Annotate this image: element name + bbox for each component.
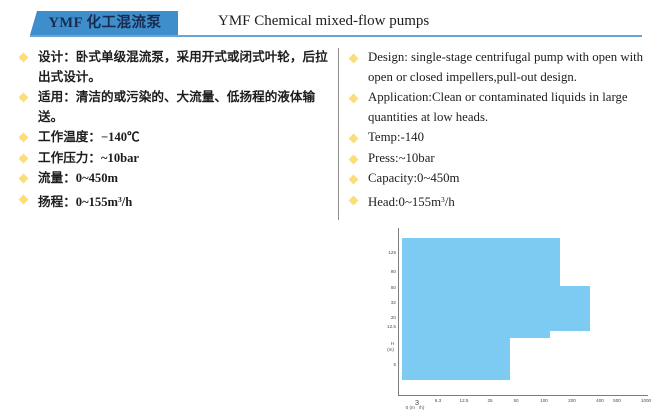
y-axis-caption-line-1: H: [391, 341, 394, 346]
y-tick-label: 125: [388, 250, 396, 255]
list-item: 设计：卧式单级混流泵，采用开式或闭式叶轮，后拉出式设计。: [16, 48, 332, 87]
list-item-label: 扬程：0~155m3/h: [38, 195, 132, 209]
diamond-bullet-icon: [19, 153, 29, 163]
list-item: Press:~10bar: [346, 149, 656, 169]
list-item: Temp:-140: [346, 128, 656, 148]
envelope-polygon: [402, 238, 590, 380]
diamond-bullet-icon: [349, 195, 359, 205]
diamond-bullet-icon: [19, 194, 29, 204]
list-item-label: Press:~10bar: [368, 151, 435, 165]
diamond-bullet-icon: [349, 54, 359, 64]
performance-envelope-chart: 125 80 50 32 20 12.5 H (m) 5 0 (m3/h) 6.…: [368, 228, 653, 413]
list-item-label: Capacity:0~450m: [368, 171, 460, 185]
diamond-bullet-icon: [349, 94, 359, 104]
y-axis-caption-line-2: (m): [387, 347, 394, 352]
column-divider: [338, 48, 339, 220]
page-header: YMF 化工混流泵 YMF Chemical mixed-flow pumps: [0, 0, 667, 42]
list-item-label: 工作温度：−140℃: [38, 130, 140, 144]
diamond-bullet-icon: [349, 154, 359, 164]
x-tick-label: 50: [513, 398, 518, 403]
list-item: Head:0~155m3/h: [346, 190, 656, 213]
spec-list-chinese: 设计：卧式单级混流泵，采用开式或闭式叶轮，后拉出式设计。 适用：清洁的或污染的、…: [16, 48, 332, 213]
x-axis-caption: 0 (m3/h): [406, 398, 425, 410]
list-item-label: 适用：清洁的或污染的、大流量、低扬程的液体输送。: [38, 90, 315, 124]
diamond-bullet-icon: [19, 133, 29, 143]
page-title-english: YMF Chemical mixed-flow pumps: [218, 13, 429, 30]
y-tick-label: 80: [391, 269, 396, 274]
y-tick-label: 20: [391, 315, 396, 320]
list-item: Capacity:0~450m: [346, 169, 656, 189]
header-divider: [30, 35, 642, 37]
list-item: 适用：清洁的或污染的、大流量、低扬程的液体输送。: [16, 88, 332, 127]
y-tick-label: 12.5: [387, 324, 396, 329]
y-tick-label: 32: [391, 300, 396, 305]
chart-y-tick-labels: 125 80 50 32 20 12.5 H (m) 5: [368, 228, 396, 396]
list-item-label: 流量：0~450m: [38, 171, 118, 185]
list-item-label: 设计：卧式单级混流泵，采用开式或闭式叶轮，后拉出式设计。: [38, 50, 328, 84]
diamond-bullet-icon: [349, 175, 359, 185]
banner-title: YMF 化工混流泵: [30, 13, 180, 35]
list-item: Application:Clean or contaminated liquid…: [346, 88, 656, 127]
list-item-label: 工作压力：~10bar: [38, 151, 139, 165]
x-tick-label: 1000: [641, 398, 651, 403]
chart-y-axis: [398, 228, 399, 396]
x-tick-label: 400: [596, 398, 604, 403]
list-item: 扬程：0~155m3/h: [16, 190, 332, 213]
x-tick-label: 100: [540, 398, 548, 403]
x-tick-label: 12.5: [460, 398, 469, 403]
list-item-label: Application:Clean or contaminated liquid…: [368, 90, 628, 124]
list-item-label: Head:0~155m3/h: [368, 195, 455, 209]
x-tick-label: 25: [487, 398, 492, 403]
chart-x-tick-labels: 0 (m3/h) 6.3 12.5 25 50 100 200 400 500 …: [368, 398, 653, 412]
diamond-bullet-icon: [349, 134, 359, 144]
list-item: 工作温度：−140℃: [16, 128, 332, 148]
list-item-label: Temp:-140: [368, 130, 424, 144]
list-item: 工作压力：~10bar: [16, 149, 332, 169]
list-item: Design: single-stage centrifugal pump wi…: [346, 48, 656, 87]
diamond-bullet-icon: [19, 53, 29, 63]
chart-plot-area: [400, 228, 648, 396]
x-tick-label: 6.3: [435, 398, 441, 403]
chart-envelope-area: [400, 228, 648, 396]
y-tick-label: 50: [391, 285, 396, 290]
diamond-bullet-icon: [19, 174, 29, 184]
list-item-label: Design: single-stage centrifugal pump wi…: [368, 50, 643, 84]
list-item: 流量：0~450m: [16, 169, 332, 189]
x-tick-label: 200: [568, 398, 576, 403]
x-tick-label: 500: [613, 398, 621, 403]
y-tick-label: 5: [393, 362, 396, 367]
spec-list-english: Design: single-stage centrifugal pump wi…: [346, 48, 656, 213]
diamond-bullet-icon: [19, 93, 29, 103]
